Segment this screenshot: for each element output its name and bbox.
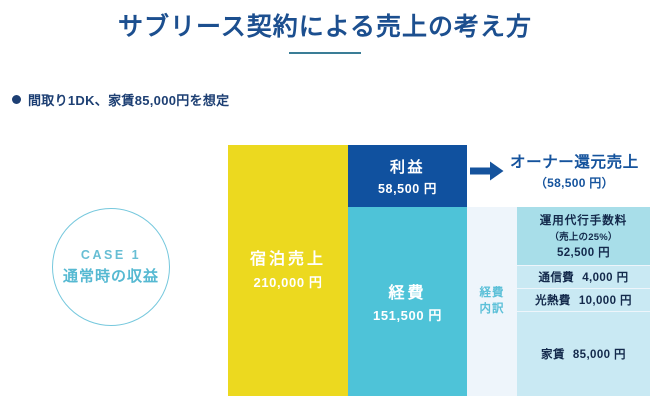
arrow-right-icon [470, 161, 504, 181]
expense-breakdown-label-line2: 内訳 [480, 302, 505, 318]
case-badge-sublabel: 通常時の収益 [63, 265, 159, 286]
case-badge: CASE 1 通常時の収益 [52, 208, 170, 326]
bar-profit-value: 58,500 円 [378, 178, 437, 197]
breakdown-row-rent: 家賃 85,000 円 [517, 312, 650, 396]
breakdown-row-management-fee: 運用代行手数料 （売上の25%） 52,500 円 [517, 207, 650, 266]
bar-revenue-title: 宿泊売上 [250, 250, 326, 271]
breakdown-row-communication: 通信費 4,000 円 [517, 266, 650, 289]
title-underline [289, 52, 361, 54]
owner-return-callout: オーナー還元売上 （58,500 円） [470, 150, 639, 191]
breakdown-row-name: 光熱費 [535, 292, 571, 308]
assumption-text: 間取り1DK、家賃85,000円を想定 [28, 90, 229, 109]
expense-breakdown-rows: 運用代行手数料 （売上の25%） 52,500 円 通信費 4,000 円 光熱… [517, 207, 650, 396]
breakdown-row-amount: 85,000 円 [573, 346, 626, 362]
expense-breakdown-label: 経費 内訳 [467, 207, 517, 396]
breakdown-row-amount: 52,500 円 [557, 244, 610, 260]
expense-breakdown-panel: 経費 内訳 運用代行手数料 （売上の25%） 52,500 円 通信費 4,00… [467, 207, 650, 396]
bar-revenue-value: 210,000 円 [253, 272, 322, 291]
assumption-row: 間取り1DK、家賃85,000円を想定 [12, 90, 229, 109]
expense-breakdown-label-line1: 経費 [480, 286, 505, 302]
breakdown-row-name: 運用代行手数料 [540, 212, 628, 228]
breakdown-row-amount: 10,000 円 [579, 292, 632, 308]
bullet-dot-icon [12, 95, 21, 104]
title-block: サブリース契約による売上の考え方 [0, 14, 650, 54]
bar-profit: 利益 58,500 円 [348, 145, 467, 207]
breakdown-row-note: （売上の25%） [549, 229, 617, 243]
page-title: サブリース契約による売上の考え方 [0, 14, 650, 42]
bar-expense-value: 151,500 円 [373, 305, 442, 324]
breakdown-row-name: 通信費 [539, 269, 575, 285]
owner-return-value: （58,500 円） [535, 174, 614, 191]
owner-return-title: オーナー還元売上 [510, 150, 639, 172]
breakdown-row-amount: 4,000 円 [582, 269, 628, 285]
bar-revenue: 宿泊売上 210,000 円 [228, 145, 348, 396]
bar-profit-title: 利益 [390, 156, 425, 177]
owner-return-texts: オーナー還元売上 （58,500 円） [510, 150, 639, 191]
case-badge-label: CASE 1 [81, 248, 141, 262]
breakdown-row-utilities: 光熱費 10,000 円 [517, 289, 650, 312]
bar-expense-title: 経費 [388, 279, 426, 303]
breakdown-row-name: 家賃 [541, 346, 565, 362]
bar-expense: 経費 151,500 円 [348, 207, 467, 396]
